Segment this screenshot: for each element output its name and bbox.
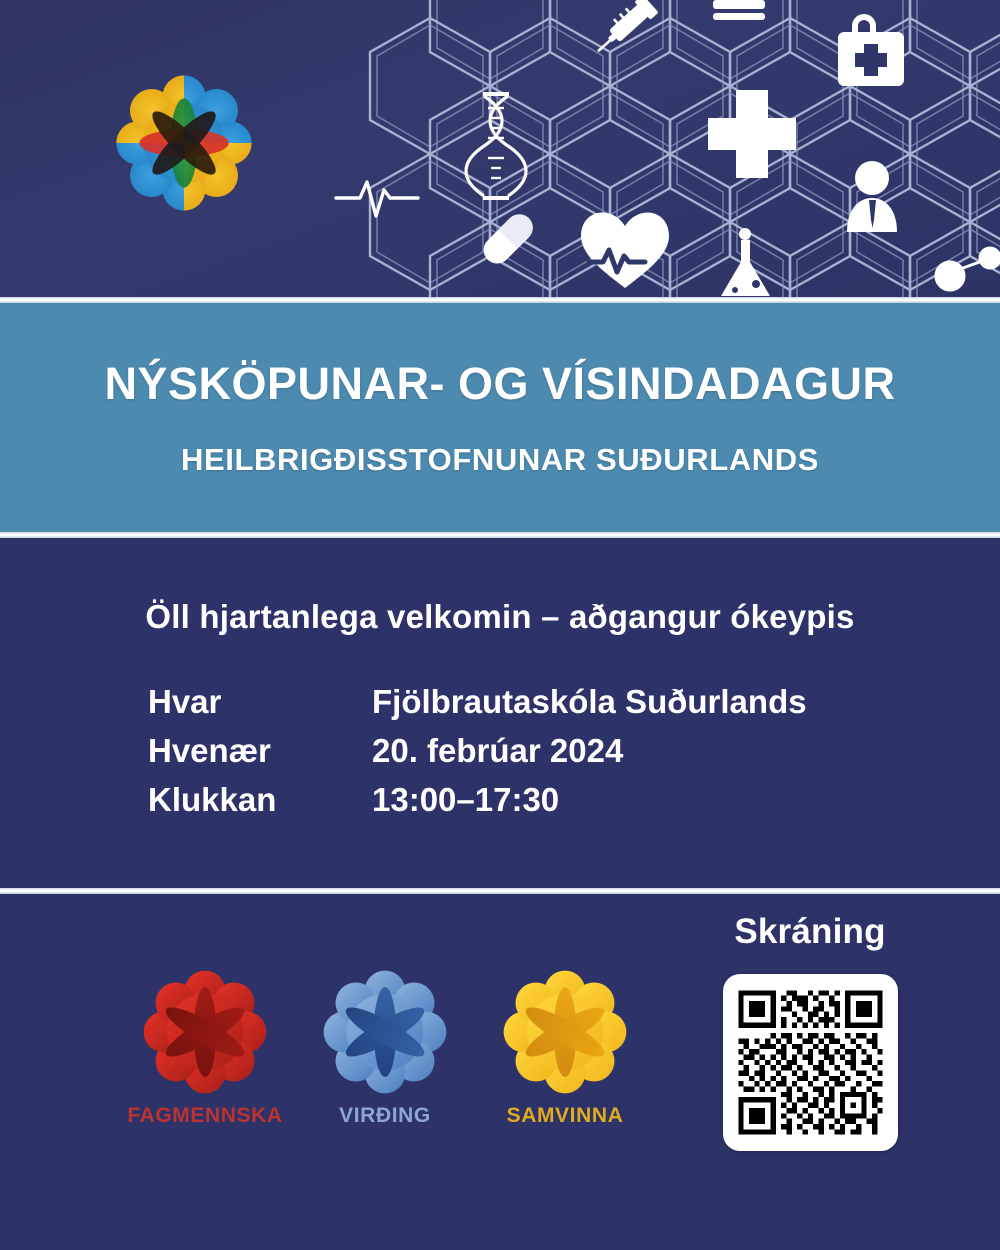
core-values: FAGMENNSKA xyxy=(130,966,640,1128)
table-row: Hvenær 20. febrúar 2024 xyxy=(148,733,807,782)
pill-capsule-icon xyxy=(478,209,538,269)
poster-title: NÝSKÖPUNAR- OG VÍSINDADAGUR xyxy=(104,361,895,406)
info-label-time: Klukkan xyxy=(148,782,372,831)
molecule-icon xyxy=(936,248,1000,290)
value-fagmennska: FAGMENNSKA xyxy=(130,966,280,1128)
event-details: Öll hjartanlega velkomin – aðgangur ókey… xyxy=(0,538,1000,888)
value-label-virding: VIRÐING xyxy=(339,1104,431,1128)
event-poster: NÝSKÖPUNAR- OG VÍSINDADAGUR HEILBRIGÐISS… xyxy=(0,0,1000,1250)
qr-code-image xyxy=(733,985,888,1140)
info-value-time: 13:00–17:30 xyxy=(372,782,807,831)
value-samvinna: SAMVINNA xyxy=(490,966,640,1128)
hospital-bed-icon xyxy=(713,0,765,20)
value-label-fagmennska: FAGMENNSKA xyxy=(127,1104,282,1128)
welcome-line: Öll hjartanlega velkomin – aðgangur ókey… xyxy=(0,598,1000,636)
value-virding: VIRÐING xyxy=(310,966,460,1128)
table-row: Klukkan 13:00–17:30 xyxy=(148,782,807,831)
registration-qr-code[interactable] xyxy=(723,974,898,1151)
hsu-flower-logo xyxy=(112,68,256,218)
flower-red xyxy=(130,966,280,1098)
registration-title: Skráning xyxy=(734,912,885,952)
footer-section: FAGMENNSKA xyxy=(0,894,1000,1250)
info-label-where: Hvar xyxy=(148,684,372,733)
lab-flask-icon xyxy=(721,228,770,296)
poster-subtitle: HEILBRIGÐISSTOFNUNAR SUÐURLANDS xyxy=(181,444,819,475)
flower-yellow xyxy=(490,966,640,1098)
hero-banner xyxy=(0,0,1000,297)
value-label-samvinna: SAMVINNA xyxy=(507,1104,624,1128)
doctor-person-icon xyxy=(847,161,897,232)
info-value-when: 20. febrúar 2024 xyxy=(372,733,807,782)
event-info-table: Hvar Fjölbrautaskóla Suðurlands Hvenær 2… xyxy=(148,684,807,831)
table-row: Hvar Fjölbrautaskóla Suðurlands xyxy=(148,684,807,733)
first-aid-kit-icon xyxy=(838,14,904,86)
heart-pulse-icon xyxy=(581,213,669,288)
info-label-when: Hvenær xyxy=(148,733,372,782)
flower-blue xyxy=(310,966,460,1098)
title-banner: NÝSKÖPUNAR- OG VÍSINDADAGUR HEILBRIGÐISS… xyxy=(0,303,1000,532)
info-value-where: Fjölbrautaskóla Suðurlands xyxy=(372,684,807,733)
registration-block: Skráning xyxy=(660,912,960,1151)
